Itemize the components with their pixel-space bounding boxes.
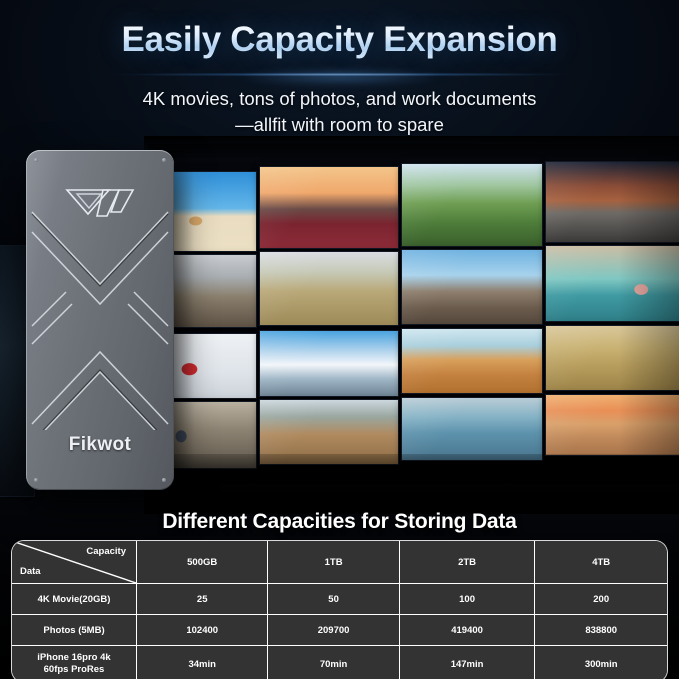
subtitle-line-1: 4K movies, tons of photos, and work docu…	[0, 86, 679, 112]
wall-top-shadow	[144, 136, 679, 158]
photo-panel	[260, 331, 398, 396]
table-header-row: Capacity Data 500GB 1TB 2TB 4TB	[12, 541, 667, 584]
table-cell: 50	[268, 584, 399, 615]
panel-sheen	[260, 252, 398, 325]
photo-panel	[402, 250, 542, 324]
panel-sheen	[402, 164, 542, 246]
table-cell: 147min	[400, 646, 536, 679]
table-cell: 209700	[268, 615, 399, 646]
row-label: Photos (5MB)	[12, 615, 137, 646]
screw-icon	[34, 478, 38, 482]
panel-sheen	[402, 398, 542, 460]
table-cell: 100	[400, 584, 536, 615]
corner-capacity-label: Capacity	[86, 546, 126, 557]
table-cell: 25	[137, 584, 268, 615]
panel-sheen	[546, 162, 679, 242]
table-corner-cell: Capacity Data	[12, 541, 137, 584]
panel-sheen	[402, 329, 542, 393]
photo-panel	[402, 329, 542, 393]
panel-sheen	[546, 395, 679, 455]
photo-video-wall	[150, 150, 679, 480]
table-cell: 34min	[137, 646, 268, 679]
panel-sheen	[402, 250, 542, 324]
row-label-line-2: 60fps ProRes	[44, 664, 105, 675]
panel-sheen	[546, 326, 679, 390]
table-cell: 102400	[137, 615, 268, 646]
table-header-capacity: 4TB	[535, 541, 667, 584]
row-label: iPhone 16pro 4k 60fps ProRes	[12, 646, 137, 679]
photo-panel	[260, 167, 398, 248]
row-label: 4K Movie(20GB)	[12, 584, 137, 615]
table-header-capacity: 1TB	[268, 541, 399, 584]
page-title: Easily Capacity Expansion	[0, 22, 679, 59]
photo-panel	[402, 398, 542, 460]
panel-sheen	[260, 331, 398, 396]
table-section-heading: Different Capacities for Storing Data	[0, 510, 679, 534]
marketing-banner: Easily Capacity Expansion 4K movies, ton…	[0, 0, 679, 679]
table-row: 4K Movie(20GB) 25 50 100 200	[12, 584, 667, 615]
screw-icon	[34, 158, 38, 162]
photo-panel	[546, 162, 679, 242]
table-header-capacity: 2TB	[400, 541, 536, 584]
table-cell: 300min	[535, 646, 667, 679]
title-glow-halo	[190, 66, 490, 88]
portable-ssd-device: Fikwot	[26, 150, 174, 490]
table-cell: 838800	[535, 615, 667, 646]
photo-panel	[260, 252, 398, 325]
panel-sheen	[260, 167, 398, 248]
photo-panel	[546, 395, 679, 455]
table-cell: 70min	[268, 646, 399, 679]
table-row: Photos (5MB) 102400 209700 419400 838800	[12, 615, 667, 646]
panel-sheen	[546, 246, 679, 321]
table-cell: 419400	[400, 615, 536, 646]
photo-panel	[402, 164, 542, 246]
table-row: iPhone 16pro 4k 60fps ProRes 34min 70min…	[12, 646, 667, 679]
table-cell: 200	[535, 584, 667, 615]
screw-icon	[162, 478, 166, 482]
screw-icon	[162, 158, 166, 162]
capacity-table: Capacity Data 500GB 1TB 2TB 4TB 4K Movie…	[12, 541, 667, 679]
title-glow-divider	[105, 73, 575, 76]
wall-bottom-shadow	[144, 454, 679, 514]
row-label-line-1: iPhone 16pro 4k	[37, 652, 110, 663]
photo-panel	[546, 246, 679, 321]
table-header-capacity: 500GB	[137, 541, 268, 584]
device-brand-label: Fikwot	[26, 434, 174, 456]
subtitle-line-2: —allfit with room to spare	[0, 112, 679, 138]
corner-data-label: Data	[20, 566, 41, 577]
photo-panel	[546, 326, 679, 390]
device-x-pattern	[26, 206, 174, 430]
page-subtitle: 4K movies, tons of photos, and work docu…	[0, 86, 679, 138]
